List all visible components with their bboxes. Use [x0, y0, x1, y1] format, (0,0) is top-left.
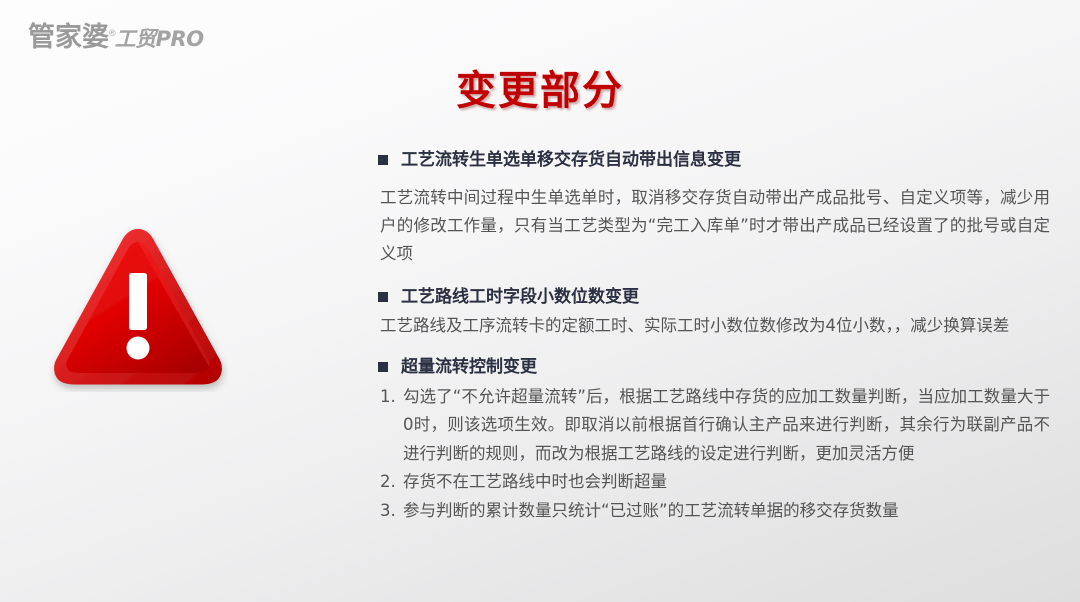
list-item-text: 存货不在工艺路线中时也会判断超量 — [403, 472, 667, 491]
list-item: 1. 勾选了“不允许超量流转”后，根据工艺路线中存货的应加工数量判断，当应加工数… — [380, 383, 1050, 468]
page-title: 变更部分 — [0, 58, 1080, 116]
section-1-body: 工艺流转中间过程中生单选单时，取消移交存货自动带出产成品批号、自定义项等，减少用… — [380, 184, 1050, 269]
slide-canvas: 管家婆 ® 工贸PRO 变更部分 — [0, 0, 1080, 602]
section-1-heading-text: 工艺流转生单选单移交存货自动带出信息变更 — [401, 148, 1050, 174]
section-1-heading: 工艺流转生单选单移交存货自动带出信息变更 — [378, 148, 1050, 174]
section-2-heading-text: 工艺路线工时字段小数位数变更 — [401, 285, 1050, 311]
slide-content: 工艺流转生单选单移交存货自动带出信息变更 工艺流转中间过程中生单选单时，取消移交… — [378, 148, 1050, 527]
list-item-text: 勾选了“不允许超量流转”后，根据工艺路线中存货的应加工数量判断，当应加工数量大于… — [403, 387, 1050, 463]
list-item-number: 2. — [380, 468, 401, 496]
square-bullet-icon — [378, 292, 388, 302]
warning-triangle-icon — [48, 220, 228, 392]
brand-product-name: 工贸PRO — [115, 29, 204, 50]
section-1: 工艺流转生单选单移交存货自动带出信息变更 工艺流转中间过程中生单选单时，取消移交… — [378, 148, 1050, 269]
square-bullet-icon — [378, 155, 388, 165]
brand-logo: 管家婆 ® 工贸PRO — [28, 24, 204, 51]
list-item: 2. 存货不在工艺路线中时也会判断超量 — [380, 468, 1050, 496]
section-3-heading: 超量流转控制变更 — [378, 355, 1050, 381]
list-item-text: 参与判断的累计数量只统计“已过账”的工艺流转单据的移交存货数量 — [403, 501, 899, 520]
section-2-heading: 工艺路线工时字段小数位数变更 — [378, 285, 1050, 311]
list-item: 3. 参与判断的累计数量只统计“已过账”的工艺流转单据的移交存货数量 — [380, 497, 1050, 525]
section-3-heading-text: 超量流转控制变更 — [401, 355, 1050, 381]
section-2-body: 工艺路线及工序流转卡的定额工时、实际工时小数位数修改为4位小数，，减少换算误差 — [380, 312, 1050, 340]
list-item-number: 1. — [380, 383, 401, 411]
list-item-number: 3. — [380, 497, 401, 525]
square-bullet-icon — [378, 362, 388, 372]
section-2: 工艺路线工时字段小数位数变更 工艺路线及工序流转卡的定额工时、实际工时小数位数修… — [378, 285, 1050, 341]
brand-name-cn: 管家婆 — [28, 24, 109, 51]
section-3: 超量流转控制变更 1. 勾选了“不允许超量流转”后，根据工艺路线中存货的应加工数… — [378, 355, 1050, 525]
section-3-list: 1. 勾选了“不允许超量流转”后，根据工艺路线中存货的应加工数量判断，当应加工数… — [378, 383, 1050, 525]
